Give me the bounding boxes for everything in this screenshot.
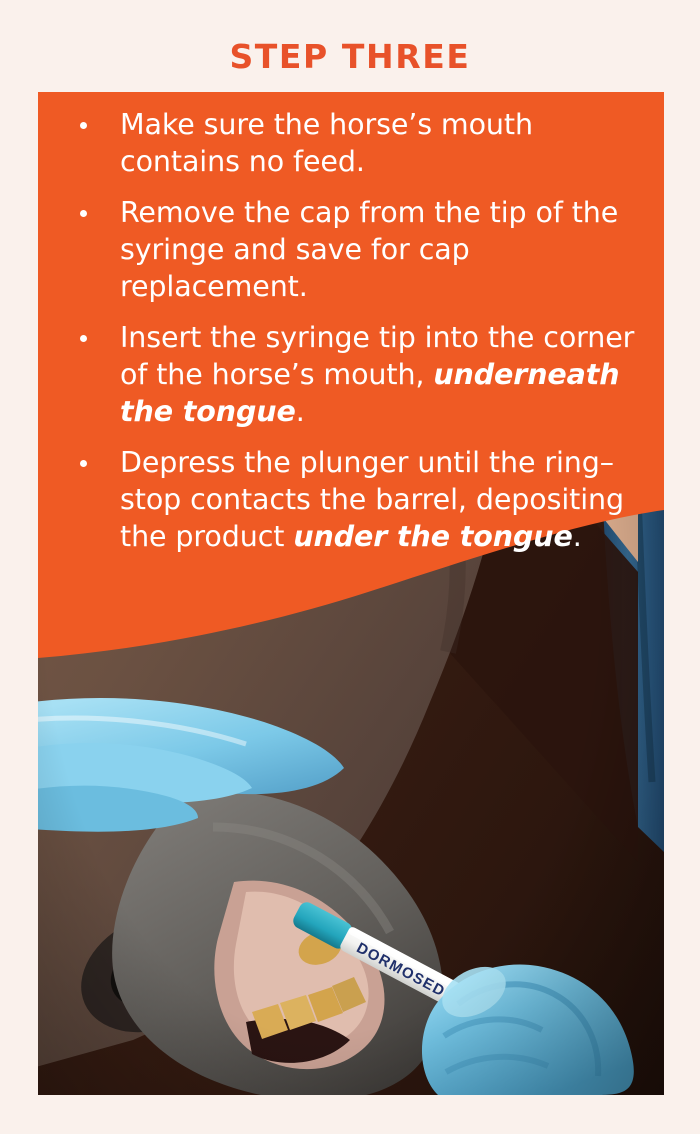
instruction-text-3: Insert the syringe tip into the corner o… bbox=[120, 321, 634, 428]
plain-text: Remove the cap from the tip of the syrin… bbox=[120, 196, 618, 303]
instruction-card: DORMOSEDAN GEL bbox=[38, 92, 664, 1095]
list-item: Remove the cap from the tip of the syrin… bbox=[38, 194, 664, 305]
plain-text: . bbox=[296, 395, 305, 428]
list-item: Insert the syringe tip into the corner o… bbox=[38, 319, 664, 430]
page-title: STEP THREE bbox=[0, 40, 700, 73]
plain-text: Make sure the horse’s mouth contains no … bbox=[120, 108, 533, 178]
plain-text: . bbox=[573, 520, 582, 553]
step-card-page: STEP THREE bbox=[0, 0, 700, 1134]
instruction-text-4: Depress the plunger until the ring–stop … bbox=[120, 446, 624, 553]
instruction-text-1: Make sure the horse’s mouth contains no … bbox=[120, 108, 533, 178]
instruction-list: Make sure the horse’s mouth contains no … bbox=[38, 92, 664, 570]
list-item: Make sure the horse’s mouth contains no … bbox=[38, 106, 664, 180]
emphasized-text: under the tongue bbox=[293, 520, 572, 553]
instruction-text-2: Remove the cap from the tip of the syrin… bbox=[120, 196, 618, 303]
list-item: Depress the plunger until the ring–stop … bbox=[38, 444, 664, 555]
